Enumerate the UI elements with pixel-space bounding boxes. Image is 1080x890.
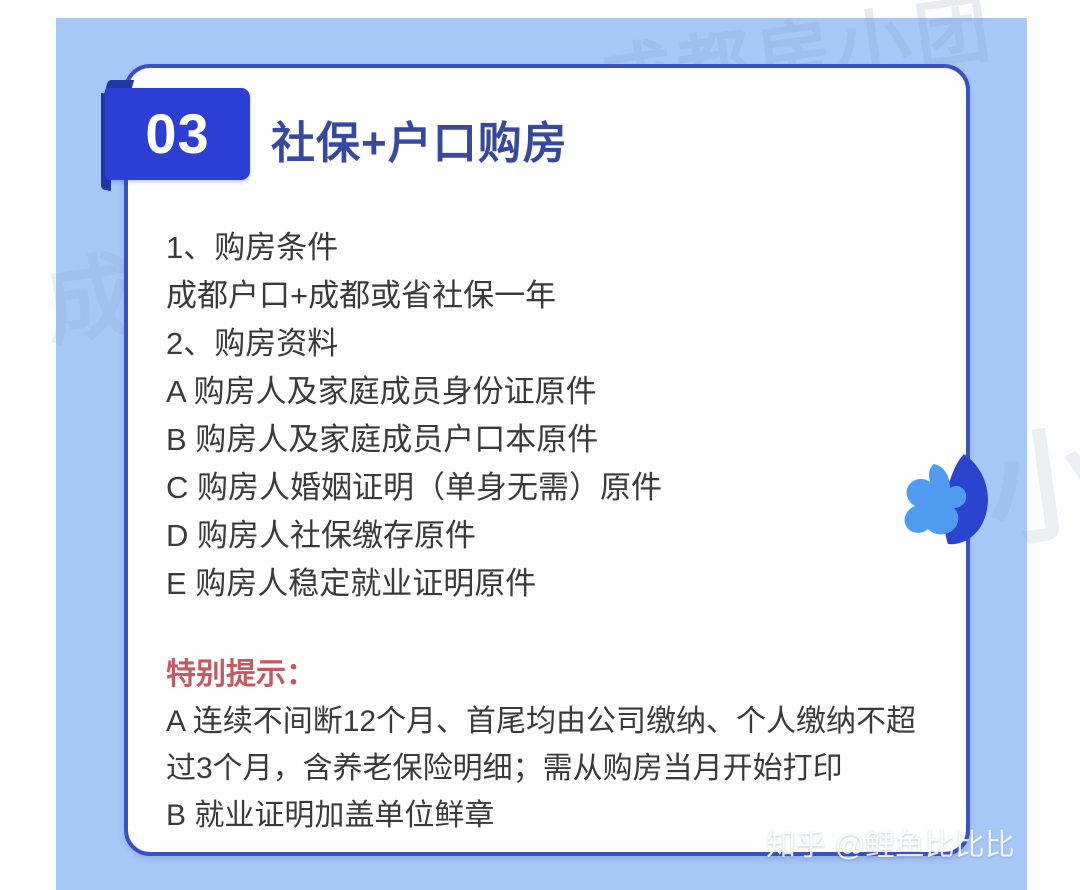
leaf-decoration-icon — [898, 448, 1008, 558]
material-item-d: D 购房人社保缴存原件 — [166, 512, 926, 560]
badge-number-label: 03 — [145, 106, 209, 162]
condition-text: 成都户口+成都或省社保一年 — [166, 272, 926, 320]
tip-heading: 特别提示： — [166, 652, 926, 698]
card-body: 1、购房条件 成都户口+成都或省社保一年 2、购房资料 A 购房人及家庭成员身份… — [166, 224, 926, 839]
condition-heading: 1、购房条件 — [166, 224, 926, 272]
tip-item-a: A 连续不间断12个月、首尾均由公司缴纳、个人缴纳不超过3个月，含养老保险明细；… — [166, 698, 926, 792]
materials-heading: 2、购房资料 — [166, 320, 926, 368]
material-item-c: C 购房人婚姻证明（单身无需）原件 — [166, 464, 926, 512]
section-spacer — [166, 608, 926, 652]
content-card: 1、购房条件 成都户口+成都或省社保一年 2、购房资料 A 购房人及家庭成员身份… — [124, 64, 970, 856]
material-item-b: B 购房人及家庭成员户口本原件 — [166, 416, 926, 464]
material-item-e: E 购房人稳定就业证明原件 — [166, 560, 926, 608]
section-number-badge: 03 — [101, 80, 253, 182]
zhihu-watermark: 知乎 @鲤鱼比比比 — [766, 820, 1015, 864]
page-title: 社保+户口购房 — [271, 107, 568, 171]
badge-body: 03 — [105, 88, 250, 180]
material-item-a: A 购房人及家庭成员身份证原件 — [166, 368, 926, 416]
poster-page: 成都房小团 成都房小团 CY成都房小团 1、购房条件 成都户口+成都或省社保一年… — [0, 0, 1080, 890]
